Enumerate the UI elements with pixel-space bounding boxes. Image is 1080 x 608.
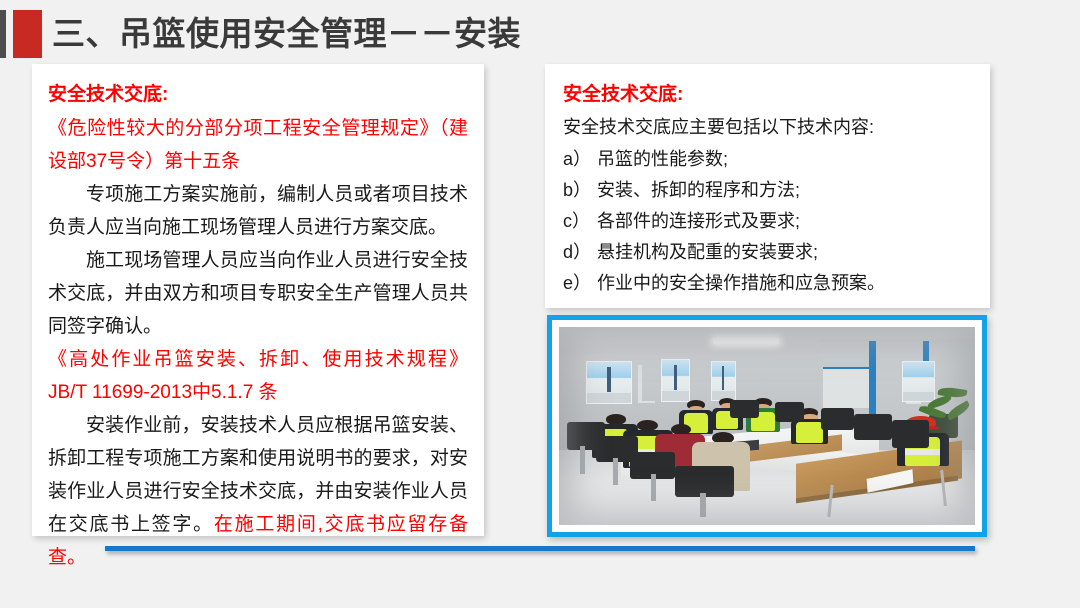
list-item-marker: e） (563, 268, 597, 299)
list-item-label: 悬挂机构及配重的安装要求; (597, 242, 818, 262)
list-item: d）悬挂机构及配重的安装要求; (563, 237, 974, 268)
left-text-card: 安全技术交底: 《危险性较大的分部分项工程安全管理规定》（建设部37号令）第十五… (32, 64, 484, 536)
list-item-label: 各部件的连接形式及要求; (597, 211, 800, 231)
wall-pipe-horizontal (638, 401, 655, 403)
bottom-divider-line (105, 546, 975, 551)
list-item: c）各部件的连接形式及要求; (563, 206, 974, 237)
list-item: b）安装、拆卸的程序和方法; (563, 175, 974, 206)
ceiling-light (713, 338, 780, 344)
page-title: 三、吊篮使用安全管理－－安装 (52, 8, 521, 60)
list-item-marker: d） (563, 237, 597, 268)
chair-leg (651, 474, 656, 502)
left-card-regulation-2: 《高处作业吊篮安装、拆卸、使用技术规程》 JB/T 11699-2013中5.1… (48, 343, 468, 409)
list-item-marker: b） (563, 175, 597, 206)
list-item: e）作业中的安全操作措施和应急预案。 (563, 268, 974, 299)
office-chair (730, 400, 759, 418)
left-card-paragraph-1: 专项施工方案实施前，编制人员或者项目技术负责人应当向施工现场管理人员进行方案交底… (48, 178, 468, 244)
right-text-card: 安全技术交底: 安全技术交底应主要包括以下技术内容: a）吊篮的性能参数; b）… (545, 64, 990, 308)
left-card-paragraph-2: 施工现场管理人员应当向作业人员进行安全技术交底，并由双方和项目专职安全生产管理人… (48, 244, 468, 343)
chair-leg (613, 458, 618, 486)
wall-poster (711, 361, 736, 402)
wall-poster (661, 359, 690, 403)
left-card-heading: 安全技术交底: (48, 80, 468, 110)
office-chair (821, 408, 854, 430)
slide-title-bar: 三、吊篮使用安全管理－－安装 (0, 8, 1080, 60)
chair-leg (700, 493, 705, 517)
wall-poster (586, 361, 632, 405)
list-item-marker: c） (563, 206, 597, 237)
title-accent-dark-bar (0, 10, 6, 58)
wall-pipe (638, 365, 642, 403)
list-item-marker: a） (563, 144, 597, 175)
list-item: a）吊篮的性能参数; (563, 144, 974, 175)
office-chair (854, 414, 891, 440)
list-item-label: 吊篮的性能参数; (597, 149, 728, 169)
photo-frame (547, 315, 987, 537)
list-item-label: 安装、拆卸的程序和方法; (597, 180, 800, 200)
office-chair (775, 402, 804, 422)
wall-poster (902, 361, 935, 403)
title-accent-red-bar (13, 10, 42, 58)
left-card-regulation-1: 《危险性较大的分部分项工程安全管理规定》（建设部37号令）第十五条 (48, 112, 468, 178)
office-chair (892, 420, 929, 448)
right-card-heading: 安全技术交底: (563, 80, 974, 110)
right-card-lead: 安全技术交底应主要包括以下技术内容: (563, 112, 974, 143)
meeting-room-photo (559, 327, 975, 525)
window-blind (823, 367, 869, 409)
chair-leg (580, 446, 585, 474)
list-item-label: 作业中的安全操作措施和应急预案。 (597, 273, 885, 293)
